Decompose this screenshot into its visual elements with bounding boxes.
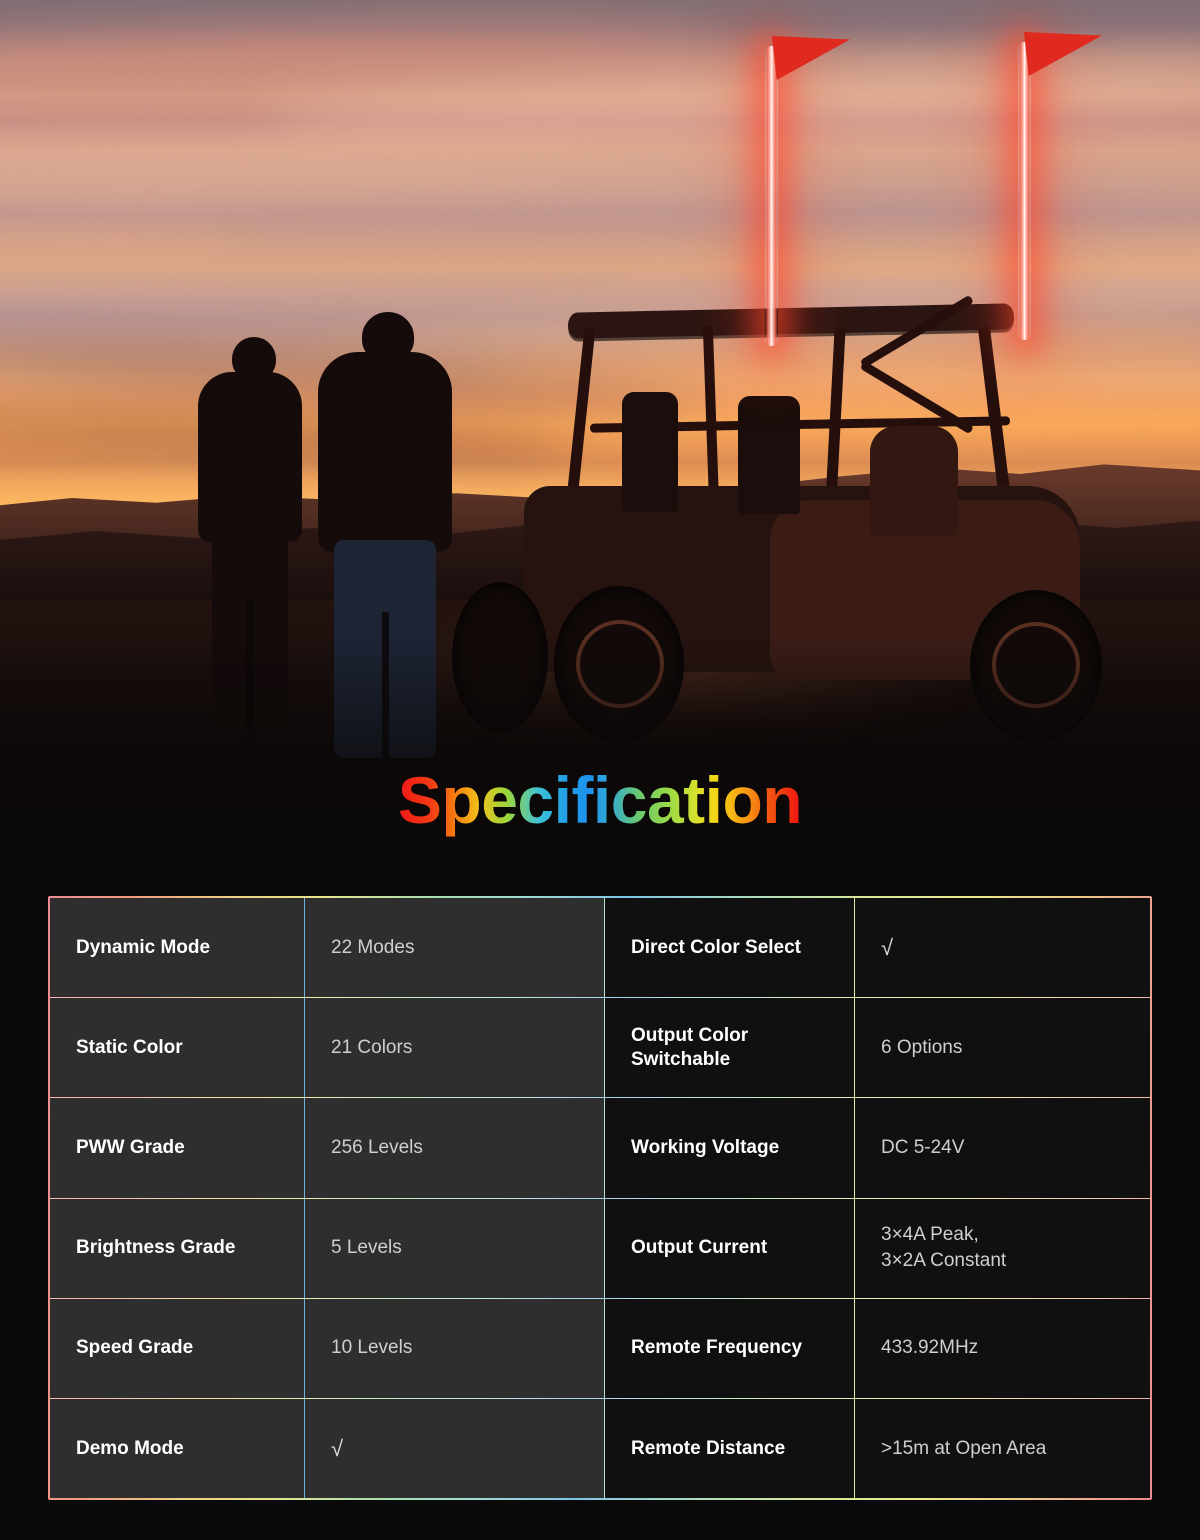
- spec-value-left-text: 256 Levels: [331, 1135, 423, 1161]
- spec-key-left: Brightness Grade: [50, 1199, 304, 1298]
- utv-seat: [738, 396, 800, 514]
- spec-value-right-text: DC 5-24V: [881, 1135, 964, 1161]
- spec-key-left: Dynamic Mode: [50, 898, 304, 997]
- spec-key-right: Working Voltage: [604, 1098, 854, 1197]
- spec-value-left-text: 22 Modes: [331, 935, 414, 961]
- page-title: Specification: [398, 762, 802, 838]
- spec-value-left: 5 Levels: [304, 1199, 604, 1298]
- spec-key-left: Static Color: [50, 998, 304, 1097]
- spec-value-right-text: >15m at Open Area: [881, 1436, 1046, 1462]
- hero-bottom-fade: [0, 635, 1200, 885]
- spec-key-left-text: Speed Grade: [76, 1336, 193, 1360]
- spec-value-right-text: 3×4A Peak,3×2A Constant: [881, 1222, 1006, 1273]
- spec-value-right: √: [854, 898, 1150, 997]
- specification-table: Dynamic Mode22 ModesDirect Color Select√…: [48, 896, 1152, 1500]
- spec-key-left-text: Demo Mode: [76, 1437, 184, 1461]
- spec-value-right: 3×4A Peak,3×2A Constant: [854, 1199, 1150, 1298]
- table-row: Brightness Grade5 LevelsOutput Current3×…: [50, 1198, 1150, 1298]
- spec-key-right-text: Output ColorSwitchable: [631, 1024, 748, 1072]
- page-title-container: Specification: [0, 762, 1200, 838]
- spec-key-right-text: Output Current: [631, 1236, 767, 1260]
- spec-key-left-text: Static Color: [76, 1036, 183, 1060]
- spec-value-right: 6 Options: [854, 998, 1150, 1097]
- spec-key-right: Remote Frequency: [604, 1299, 854, 1398]
- table-row: Speed Grade10 LevelsRemote Frequency433.…: [50, 1298, 1150, 1398]
- spec-value-left: √: [304, 1399, 604, 1498]
- spec-key-left-text: PWW Grade: [76, 1136, 185, 1160]
- table-row: Dynamic Mode22 ModesDirect Color Select√: [50, 898, 1150, 997]
- spec-value-right-text: 433.92MHz: [881, 1335, 978, 1361]
- spec-value-right: 433.92MHz: [854, 1299, 1150, 1398]
- spec-key-right-text: Remote Frequency: [631, 1336, 802, 1360]
- spec-value-right: DC 5-24V: [854, 1098, 1150, 1197]
- spec-key-right: Remote Distance: [604, 1399, 854, 1498]
- spec-key-right-text: Working Voltage: [631, 1136, 779, 1160]
- spec-key-right: Output Current: [604, 1199, 854, 1298]
- utv-seat: [622, 392, 678, 512]
- spec-key-left: PWW Grade: [50, 1098, 304, 1197]
- spec-value-left-text: 10 Levels: [331, 1335, 412, 1361]
- spec-key-right-text: Remote Distance: [631, 1437, 785, 1461]
- table-row: Demo Mode√Remote Distance>15m at Open Ar…: [50, 1398, 1150, 1498]
- roll-cage-bar: [825, 326, 845, 506]
- spec-value-left: 10 Levels: [304, 1299, 604, 1398]
- spec-value-left-text: 21 Colors: [331, 1035, 412, 1061]
- spec-key-right: Output ColorSwitchable: [604, 998, 854, 1097]
- hero-photo: [0, 0, 1200, 885]
- spec-value-left: 22 Modes: [304, 898, 604, 997]
- spec-key-right: Direct Color Select: [604, 898, 854, 997]
- person-silhouette-body: [318, 352, 452, 552]
- spec-value-right-text: 6 Options: [881, 1035, 962, 1061]
- specification-table-body: Dynamic Mode22 ModesDirect Color Select√…: [50, 898, 1150, 1498]
- spec-key-left: Speed Grade: [50, 1299, 304, 1398]
- spec-key-right-text: Direct Color Select: [631, 936, 801, 960]
- led-whip-light: [1018, 42, 1031, 340]
- roll-cage-bar: [703, 326, 719, 506]
- person-silhouette-body: [198, 372, 302, 542]
- spec-key-left-text: Brightness Grade: [76, 1236, 235, 1260]
- spec-value-left-text: √: [331, 1434, 343, 1464]
- spec-value-right-text: √: [881, 933, 893, 963]
- utv-seat: [870, 426, 958, 536]
- spec-value-left: 21 Colors: [304, 998, 604, 1097]
- spec-value-left: 256 Levels: [304, 1098, 604, 1197]
- table-row: Static Color21 ColorsOutput ColorSwitcha…: [50, 997, 1150, 1097]
- spec-key-left: Demo Mode: [50, 1399, 304, 1498]
- spec-key-left-text: Dynamic Mode: [76, 936, 210, 960]
- led-whip-light: [765, 46, 778, 346]
- spec-value-right: >15m at Open Area: [854, 1399, 1150, 1498]
- table-row: PWW Grade256 LevelsWorking VoltageDC 5-2…: [50, 1097, 1150, 1197]
- spec-value-left-text: 5 Levels: [331, 1235, 402, 1261]
